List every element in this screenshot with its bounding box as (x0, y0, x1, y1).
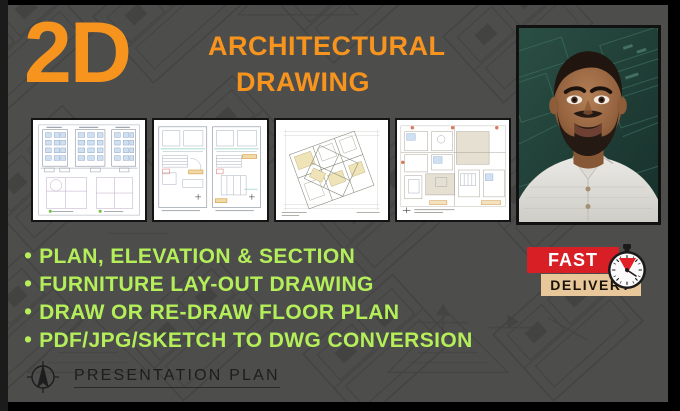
brand-name-label: PRESENTATION PLAN (74, 367, 280, 388)
list-item: • DRAW OR RE-DRAW FLOOR PLAN (24, 297, 584, 325)
bullet-dot-icon: • (24, 241, 32, 269)
headline: 2D ARCHITECTURAL DRAWING (24, 18, 504, 110)
services-list: • PLAN, ELEVATION & SECTION • FURNITURE … (24, 241, 584, 353)
service-item-label: PDF/JPG/SKETCH TO DWG CONVERSION (39, 327, 473, 355)
service-item-label: FURNITURE LAY-OUT DRAWING (39, 271, 374, 299)
drawing-thumbnail-row (31, 118, 511, 222)
headline-2d-label: 2D (24, 10, 130, 96)
bullet-dot-icon: • (24, 325, 32, 353)
brand-footer: PRESENTATION PLAN (26, 360, 280, 394)
headline-title-line1: ARCHITECTURAL (208, 28, 508, 64)
thumbnail-rotated-site-floor-plan-sheet[interactable] (274, 118, 390, 222)
bullet-dot-icon: • (24, 269, 32, 297)
headline-title: ARCHITECTURAL DRAWING (208, 28, 508, 100)
list-item: • PLAN, ELEVATION & SECTION (24, 241, 584, 269)
headline-title-line2: DRAWING (208, 64, 508, 100)
thumbnail-detailed-furnished-floor-plan-sheet[interactable] (395, 118, 511, 222)
stopwatch-icon (603, 243, 651, 291)
frame-bottom-bar (0, 402, 680, 411)
list-item: • FURNITURE LAY-OUT DRAWING (24, 269, 584, 297)
service-item-label: DRAW OR RE-DRAW FLOOR PLAN (39, 299, 399, 327)
compass-rose-icon (26, 360, 60, 394)
bullet-dot-icon: • (24, 297, 32, 325)
thumbnail-elevation-and-plan-sheet[interactable] (31, 118, 147, 222)
gig-poster: 2D ARCHITECTURAL DRAWING (0, 0, 680, 411)
service-item-label: PLAN, ELEVATION & SECTION (39, 243, 355, 271)
seller-portrait-photo (516, 25, 661, 225)
frame-right-bar (668, 0, 680, 411)
list-item: • PDF/JPG/SKETCH TO DWG CONVERSION (24, 325, 584, 353)
thumbnail-two-unit-furniture-plan-sheet[interactable] (152, 118, 268, 222)
frame-left-bar (0, 0, 8, 411)
fast-delivery-badge: FAST DELIVERY (527, 247, 655, 302)
